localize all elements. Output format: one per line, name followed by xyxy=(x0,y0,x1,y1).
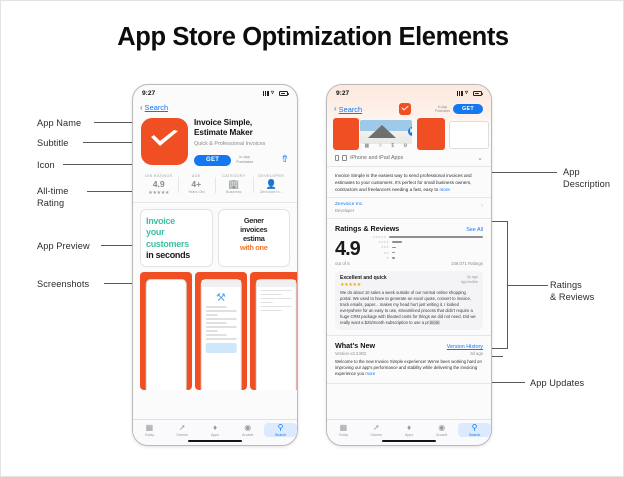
chevron-left-icon: ‹ xyxy=(140,104,143,112)
preview-line: your xyxy=(146,227,207,239)
ratings-count: 108,071 Ratings xyxy=(367,261,483,266)
doc-line xyxy=(206,326,237,328)
tab-label: Games xyxy=(360,433,393,437)
version-label: Version v3.3.802 xyxy=(335,351,366,356)
screenshot-1[interactable] xyxy=(140,272,192,390)
review-header: Excellent and quick ★★★★★ 3y ago dg1rlwl… xyxy=(340,275,478,288)
histogram-bar xyxy=(392,257,395,259)
doc-header xyxy=(202,280,241,287)
whats-new-section: What's New Version History Version v3.3.… xyxy=(327,336,491,384)
stat-label: DEVELOPER xyxy=(253,174,291,178)
review-card[interactable]: Excellent and quick ★★★★★ 3y ago dg1rlwl… xyxy=(335,271,483,330)
stat-value: 4.9 xyxy=(140,179,178,189)
screenshot-content xyxy=(146,279,187,390)
app-stats-row: 10K RATINGS 4.9 ★★★★★ AGE 4+ Years Old C… xyxy=(133,174,297,203)
tab-label: Search xyxy=(264,433,297,437)
stat-sub: Business xyxy=(215,190,253,194)
star-row-1: ★ xyxy=(367,256,389,260)
histogram-row: ★★★★ xyxy=(367,240,483,244)
phone-mockup-right: 9:27 ▿ ‹ Search In-App Purchases GET xyxy=(326,84,492,446)
rating-summary: 4.9 out of 5 ★★★★★ ★★★★ ★★★ ★★ ★ 108,071… xyxy=(335,235,483,266)
games-rocket-icon: ➚ xyxy=(166,423,199,432)
wifi-icon: ▿ xyxy=(271,91,277,96)
section-title: Ratings & Reviews xyxy=(335,224,399,233)
checkmark-icon xyxy=(401,106,409,111)
review-meta: 3y ago dg1rlwlfire xyxy=(461,275,478,288)
annotation-ratings-reviews: Ratings & Reviews xyxy=(550,279,594,303)
preview-line: with one xyxy=(224,243,285,252)
tab-label: Apps xyxy=(199,433,232,437)
stat-sub: Years Old xyxy=(178,190,216,194)
status-time: 9:27 xyxy=(142,90,155,97)
preview-line: invoices xyxy=(224,225,285,234)
annotation-subtitle: Subtitle xyxy=(37,137,68,149)
apps-stack-icon: ♦ xyxy=(393,423,426,432)
battery-icon xyxy=(279,91,288,96)
version-age: 3d ago xyxy=(470,351,483,356)
preview-line: Gener xyxy=(224,216,285,225)
tab-label: Apps xyxy=(393,433,426,437)
annotation-app-name: App Name xyxy=(37,117,81,129)
today-icon: ▦ xyxy=(327,423,360,432)
screenshot-partial-right[interactable] xyxy=(417,118,445,150)
screenshot-photo[interactable]: ▶ xyxy=(360,120,412,144)
tab-label: Today xyxy=(327,433,360,437)
histogram-row: ★★ xyxy=(367,251,483,255)
section-title: What's New xyxy=(335,341,375,350)
annotation-app-updates: App Updates xyxy=(530,377,584,389)
whats-new-header: What's New Version History xyxy=(335,341,483,350)
share-icon[interactable]: ⇮ xyxy=(281,155,289,165)
doc-line xyxy=(261,306,292,308)
stat-value: 4+ xyxy=(178,179,216,189)
preview-line: customers xyxy=(146,239,207,251)
app-header: Invoice Simple, Estimate Maker Quick & P… xyxy=(133,115,297,166)
rating-histogram: ★★★★★ ★★★★ ★★★ ★★ ★ 108,071 Ratings xyxy=(360,235,483,266)
tab-apps[interactable]: ♦ Apps xyxy=(393,423,426,437)
more-link[interactable]: more xyxy=(365,371,375,376)
tab-label: Arcade xyxy=(425,433,458,437)
whats-new-body: Welcome to the new Invoice Simple experi… xyxy=(335,359,483,378)
annotation-icon: Icon xyxy=(37,159,55,171)
screenshot-toolbar-icons: ▦ ☃ $ ⚙ xyxy=(360,143,412,149)
doc-line xyxy=(206,330,218,332)
in-app-purchases-note: In-App Purchases xyxy=(236,155,253,165)
histogram-bar xyxy=(392,241,402,243)
doc-line xyxy=(206,322,227,324)
leader-line-app-updates xyxy=(489,382,525,383)
sticky-nav-right: ‹ Search In-App Purchases GET xyxy=(327,102,491,117)
tab-label: Search xyxy=(458,433,491,437)
status-icons: ▿ xyxy=(263,91,288,96)
nav-back-search-left[interactable]: ‹ Search xyxy=(133,102,297,115)
version-history-link[interactable]: Version History xyxy=(447,344,483,350)
tab-today[interactable]: ▦ Today xyxy=(133,423,166,437)
doc-line xyxy=(206,334,227,336)
doc-line xyxy=(261,302,273,304)
tab-arcade[interactable]: ◉ Arcade xyxy=(231,423,264,437)
stat-sub: Zenvoice In... xyxy=(253,190,291,194)
doc-header xyxy=(257,280,296,287)
histogram-bar xyxy=(392,247,397,249)
search-icon: ⚲ xyxy=(458,423,491,432)
star-row-4: ★★★★ xyxy=(367,240,389,244)
review-star-rating: ★★★★★ xyxy=(340,282,387,288)
cellular-signal-icon xyxy=(263,91,269,96)
get-button[interactable]: GET xyxy=(453,104,483,114)
app-subtitle: Quick & Professional Invoices xyxy=(194,141,289,148)
status-time: 9:27 xyxy=(336,90,349,97)
rating-out-of: out of 5 xyxy=(335,261,360,266)
whats-new-text: Welcome to the new Invoice Simple experi… xyxy=(335,359,482,376)
page-title: App Store Optimization Elements xyxy=(1,23,624,52)
screenshot-partial-left[interactable] xyxy=(333,118,359,150)
stat-label: 10K RATINGS xyxy=(140,174,178,178)
chevron-down-icon[interactable]: ⌄ xyxy=(477,154,483,162)
doc-image-block xyxy=(206,343,237,353)
doc-line xyxy=(261,294,282,296)
tab-search[interactable]: ⚲ Search xyxy=(264,423,297,437)
games-rocket-icon: ➚ xyxy=(360,423,393,432)
invoice-simple-app-icon[interactable] xyxy=(141,118,188,165)
preview-line: estima xyxy=(224,234,285,243)
histogram-row: ★ xyxy=(367,256,483,260)
slide-canvas: App Store Optimization Elements App Name… xyxy=(0,0,624,477)
doc-line xyxy=(261,290,292,292)
screenshot-2[interactable]: ⚒ xyxy=(195,272,247,390)
preview-line: Invoice xyxy=(146,216,207,228)
arcade-joystick-icon: ◉ xyxy=(425,423,458,432)
stat-age: AGE 4+ Years Old xyxy=(178,174,216,196)
developer-name: Zenvoice Inc. xyxy=(335,202,364,207)
app-preview-card-2[interactable]: Gener invoices estima with one xyxy=(218,209,291,267)
battery-icon xyxy=(473,91,482,96)
tab-arcade[interactable]: ◉ Arcade xyxy=(425,423,458,437)
doc-line xyxy=(261,310,282,312)
review-title: Excellent and quick xyxy=(340,275,387,281)
developer-role: Developer xyxy=(335,208,483,213)
doc-line xyxy=(206,318,237,320)
histogram-bar xyxy=(389,236,483,238)
stat-label: CATEGORY xyxy=(215,174,253,178)
today-icon: ▦ xyxy=(133,423,166,432)
wifi-icon: ▿ xyxy=(465,91,471,96)
screenshot-content xyxy=(256,279,297,390)
annotation-screenshots: Screenshots xyxy=(37,278,89,290)
screenshots-carousel[interactable]: ⚒ xyxy=(133,272,297,394)
dollar-icon: $ xyxy=(391,143,394,149)
histogram-row: ★★★★★ xyxy=(367,235,483,239)
get-button[interactable]: GET xyxy=(194,155,231,166)
app-preview-carousel[interactable]: Invoice your customers in seconds Gener … xyxy=(133,203,297,267)
star-row-3: ★★★ xyxy=(367,245,389,249)
ipad-icon xyxy=(342,155,347,162)
checkmark-icon xyxy=(150,130,179,147)
star-rating-icon: ★★★★★ xyxy=(140,190,178,196)
screenshot-content: ⚒ xyxy=(201,279,242,390)
annotation-app-preview: App Preview xyxy=(37,240,90,252)
chevron-left-icon: ‹ xyxy=(334,105,337,113)
cellular-signal-icon xyxy=(457,91,463,96)
gear-icon: ⚙ xyxy=(403,143,407,149)
category-building-icon: 🏢 xyxy=(215,179,253,189)
in-app-purchases-note: In-App Purchases xyxy=(435,105,450,113)
tab-search[interactable]: ⚲ Search xyxy=(458,423,491,437)
chevron-right-icon: › xyxy=(481,203,483,209)
annotation-app-description: App Description xyxy=(563,166,610,190)
stat-developer: DEVELOPER 👤 Zenvoice In... xyxy=(253,174,291,196)
developer-person-icon: 👤 xyxy=(253,179,291,189)
screenshots-strip-right[interactable]: ▶ ▦ ☃ $ ⚙ xyxy=(327,118,491,150)
annotation-all-time-rating: All-time Rating xyxy=(37,185,68,209)
doc-line xyxy=(206,314,218,316)
tab-label: Arcade xyxy=(231,433,264,437)
device-compatibility-row[interactable]: iPhone and iPad Apps ⌄ xyxy=(327,150,491,167)
device-label: iPhone and iPad Apps xyxy=(350,155,403,161)
tab-apps[interactable]: ♦ Apps xyxy=(199,423,232,437)
doc-line xyxy=(206,338,237,340)
get-row: GET In-App Purchases ⇮ xyxy=(194,155,289,166)
tab-label: Today xyxy=(133,433,166,437)
screenshot-3[interactable] xyxy=(250,272,297,390)
more-link[interactable]: more xyxy=(439,187,449,192)
ratings-header: Ratings & Reviews See All xyxy=(335,224,483,233)
apps-stack-icon: ♦ xyxy=(199,423,232,432)
app-description: Invoice Simple is the easiest way to sen… xyxy=(327,167,491,198)
tab-games[interactable]: ➚ Games xyxy=(166,423,199,437)
tab-games[interactable]: ➚ Games xyxy=(360,423,393,437)
see-all-link[interactable]: See All xyxy=(466,227,483,233)
phone-mockup-left: 9:27 ▿ ‹ Search Invoice Simple, Estimate… xyxy=(132,84,298,446)
doc-line xyxy=(206,306,227,308)
nav-back-label: Search xyxy=(145,103,168,112)
stat-category: CATEGORY 🏢 Business xyxy=(215,174,253,196)
screenshot-white-card[interactable] xyxy=(449,121,489,149)
leader-line-ratings-reviews xyxy=(508,285,548,286)
histogram-row: ★★★ xyxy=(367,245,483,249)
app-meta: Invoice Simple, Estimate Maker Quick & P… xyxy=(188,118,289,166)
tools-icon: ⚒ xyxy=(202,291,241,304)
star-row-5: ★★★★★ xyxy=(367,235,386,239)
ratings-reviews-section: Ratings & Reviews See All 4.9 out of 5 ★… xyxy=(327,219,491,336)
app-preview-card-1[interactable]: Invoice your customers in seconds xyxy=(140,209,213,267)
star-row-2: ★★ xyxy=(367,251,389,255)
nav-back-label: Search xyxy=(339,105,362,114)
developer-link-row[interactable]: Zenvoice Inc. Developer › xyxy=(327,198,491,219)
stat-ratings: 10K RATINGS 4.9 ★★★★★ xyxy=(140,174,178,196)
status-icons: ▿ xyxy=(457,91,482,96)
nav-back-search-right[interactable]: ‹ Search xyxy=(334,105,362,114)
app-name: Invoice Simple, Estimate Maker xyxy=(194,118,289,138)
doc-line xyxy=(206,310,237,312)
arcade-joystick-icon: ◉ xyxy=(231,423,264,432)
rating-score: 4.9 xyxy=(335,239,360,259)
whats-new-meta: Version v3.3.802 3d ago xyxy=(335,351,483,356)
person-icon: ☃ xyxy=(378,143,382,149)
calendar-icon: ▦ xyxy=(364,143,369,149)
review-body-text: We do about 10 sales a week outside of o… xyxy=(340,290,476,325)
tab-today[interactable]: ▦ Today xyxy=(327,423,360,437)
doc-line xyxy=(261,298,292,300)
tab-label: Games xyxy=(166,433,199,437)
stat-label: AGE xyxy=(178,174,216,178)
review-author: dg1rlwlfire xyxy=(461,280,478,285)
iphone-icon xyxy=(335,155,339,161)
rating-score-block: 4.9 out of 5 xyxy=(335,239,360,266)
play-badge-icon[interactable]: ▶ xyxy=(408,127,412,136)
histogram-bar xyxy=(392,252,395,254)
leader-line-app-description xyxy=(489,172,557,173)
app-description-text: Invoice Simple is the easiest way to sen… xyxy=(335,173,472,192)
preview-line: in seconds xyxy=(146,250,207,262)
invoice-simple-app-icon-small[interactable] xyxy=(399,103,411,115)
more-link[interactable]: more xyxy=(429,320,441,325)
status-bar-left: 9:27 ▿ xyxy=(133,85,297,102)
status-bar-right: 9:27 ▿ xyxy=(327,85,491,102)
review-body: We do about 10 sales a week outside of o… xyxy=(340,290,478,326)
search-icon: ⚲ xyxy=(264,423,297,432)
